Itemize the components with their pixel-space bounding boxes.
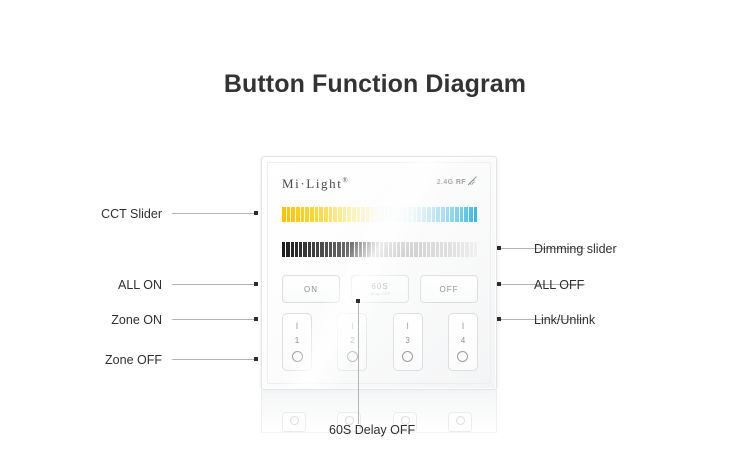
slider-segment xyxy=(350,242,353,257)
leader-line-all-on xyxy=(172,284,256,285)
slider-segment xyxy=(329,242,332,257)
brand-name: Mi·Light xyxy=(282,176,342,191)
slider-segment xyxy=(410,242,413,257)
reflection-zone-4 xyxy=(448,412,472,432)
slider-segment xyxy=(380,207,384,222)
zone-off-icon[interactable] xyxy=(457,351,468,362)
zone-number-label: 4 xyxy=(461,337,465,345)
zone-off-icon[interactable] xyxy=(347,351,358,362)
slider-segment xyxy=(413,207,417,222)
all-off-button[interactable]: OFF xyxy=(420,275,478,303)
slider-segment xyxy=(444,242,447,257)
slider-segment xyxy=(457,242,460,257)
slider-segment xyxy=(406,242,409,257)
slider-segment xyxy=(329,207,333,222)
slider-segment xyxy=(393,242,396,257)
slider-segment xyxy=(385,207,389,222)
leader-line-delay-off xyxy=(358,303,359,424)
slider-segment xyxy=(375,207,379,222)
callout-all-off: ALL OFF xyxy=(534,279,584,292)
slider-segment xyxy=(286,242,289,257)
slider-segment xyxy=(423,242,426,257)
leader-dot-zone-off xyxy=(254,357,258,361)
delay-off-sublabel: delay OFF xyxy=(370,291,390,296)
slider-segment xyxy=(372,242,375,257)
slider-segment xyxy=(342,242,345,257)
slider-segment xyxy=(347,207,351,222)
all-on-button[interactable]: ON xyxy=(282,275,340,303)
slider-segment xyxy=(394,207,398,222)
slider-segment xyxy=(474,207,478,222)
slider-segment xyxy=(366,207,370,222)
zone-button-1[interactable]: I 1 xyxy=(282,313,312,371)
slider-segment xyxy=(301,207,305,222)
callout-zone-off: Zone OFF xyxy=(62,354,162,367)
slider-segment xyxy=(361,207,365,222)
slider-segment xyxy=(397,242,400,257)
slider-segment xyxy=(448,242,451,257)
slider-segment xyxy=(419,242,422,257)
page-title: Button Function Diagram xyxy=(0,70,750,99)
slider-segment xyxy=(450,207,454,222)
slider-segment xyxy=(464,207,468,222)
slider-segment xyxy=(333,242,336,257)
slider-segment xyxy=(316,242,319,257)
slider-segment xyxy=(414,242,417,257)
slider-segment xyxy=(441,207,445,222)
slider-segment xyxy=(367,242,370,257)
zone-off-icon xyxy=(456,416,465,425)
zone-on-icon[interactable]: I xyxy=(462,322,465,331)
leader-line-zone-off xyxy=(172,359,256,360)
slider-segment xyxy=(352,207,356,222)
callout-dimming-slider: Dimming slider xyxy=(534,243,617,256)
brand-row: Mi·Light® 2.4G RF xyxy=(282,176,478,192)
zone-off-icon[interactable] xyxy=(292,351,303,362)
leader-line-zone-on xyxy=(172,319,256,320)
slider-segment xyxy=(308,242,311,257)
slider-segment xyxy=(389,207,393,222)
slider-segment xyxy=(422,207,426,222)
zone-number-label: 1 xyxy=(295,337,299,345)
slider-segment xyxy=(357,207,361,222)
slider-segment xyxy=(305,207,309,222)
callout-delay-off: 60S Delay OFF xyxy=(329,424,415,437)
slider-segment xyxy=(408,207,412,222)
leader-dot-all-on xyxy=(254,282,258,286)
slider-segment xyxy=(465,242,468,257)
wifi-wave-icon xyxy=(467,176,478,188)
callout-zone-on: Zone ON xyxy=(62,314,162,327)
slider-segment xyxy=(432,207,436,222)
all-off-label: OFF xyxy=(440,285,459,294)
zone-on-icon[interactable]: I xyxy=(296,322,299,331)
zone-on-icon[interactable]: I xyxy=(351,322,354,331)
leader-dot-zone-on xyxy=(254,317,258,321)
slider-segment xyxy=(315,207,319,222)
rf-badge: 2.4G RF xyxy=(437,179,478,188)
slider-segment xyxy=(303,242,306,257)
slider-segment xyxy=(431,242,434,257)
leader-dot-cct-slider xyxy=(254,211,258,215)
zone-button-3[interactable]: I 3 xyxy=(393,313,423,371)
all-on-label: ON xyxy=(304,285,318,294)
slider-segment xyxy=(474,242,477,257)
callout-cct-slider: CCT Slider xyxy=(62,208,162,221)
slider-segment xyxy=(343,207,347,222)
slider-segment xyxy=(401,242,404,257)
registered-mark-icon: ® xyxy=(342,177,347,185)
slider-segment xyxy=(389,242,392,257)
leader-line-cct-slider xyxy=(172,213,256,214)
slider-segment xyxy=(346,242,349,257)
slider-segment xyxy=(295,242,298,257)
mode-button-row: ON 60S delay OFF OFF xyxy=(282,275,478,301)
slider-segment xyxy=(453,242,456,257)
zone-on-icon[interactable]: I xyxy=(406,322,409,331)
slider-segment xyxy=(376,242,379,257)
callout-all-on: ALL ON xyxy=(62,279,162,292)
slider-segment xyxy=(355,242,358,257)
brand-logo: Mi·Light® xyxy=(282,176,348,192)
zone-number-label: 2 xyxy=(350,337,354,345)
slider-segment xyxy=(312,242,315,257)
slider-segment xyxy=(469,207,473,222)
device-panel: Mi·Light® 2.4G RF ON 60S delay OFF OFF I… xyxy=(261,156,497,390)
slider-segment xyxy=(399,207,403,222)
zone-number-label: 3 xyxy=(405,337,409,345)
slider-segment xyxy=(282,207,286,222)
slider-segment xyxy=(319,207,323,222)
slider-segment xyxy=(287,207,291,222)
slider-segment xyxy=(291,207,295,222)
slider-segment xyxy=(338,207,342,222)
slider-segment xyxy=(446,207,450,222)
slider-segment xyxy=(455,207,459,222)
slider-segment xyxy=(324,207,328,222)
slider-segment xyxy=(427,242,430,257)
slider-segment xyxy=(436,207,440,222)
zone-off-icon[interactable] xyxy=(402,351,413,362)
slider-segment xyxy=(337,242,340,257)
slider-segment xyxy=(417,207,421,222)
zone-off-icon xyxy=(290,416,299,425)
slider-segment xyxy=(440,242,443,257)
slider-segment xyxy=(461,242,464,257)
zone-button-row: I 1 I 2 I 3 I 4 xyxy=(282,313,478,371)
slider-segment xyxy=(333,207,337,222)
slider-segment xyxy=(371,207,375,222)
slider-segment xyxy=(470,242,473,257)
slider-segment xyxy=(359,242,362,257)
slider-segment xyxy=(363,242,366,257)
slider-segment xyxy=(320,242,323,257)
cct-slider[interactable] xyxy=(282,207,478,222)
slider-segment xyxy=(291,242,294,257)
zone-button-4[interactable]: I 4 xyxy=(448,313,478,371)
zone-button-2[interactable]: I 2 xyxy=(337,313,367,371)
slider-segment xyxy=(427,207,431,222)
rf-badge-label: 2.4G RF xyxy=(437,179,466,186)
callout-link-unlink: Link/Unlink xyxy=(534,314,595,327)
slider-segment xyxy=(296,207,300,222)
slider-segment xyxy=(282,242,285,257)
slider-segment xyxy=(299,242,302,257)
slider-segment xyxy=(403,207,407,222)
slider-segment xyxy=(325,242,328,257)
slider-segment xyxy=(310,207,314,222)
reflection-zone-1 xyxy=(282,412,306,432)
slider-segment xyxy=(380,242,383,257)
slider-segment xyxy=(460,207,464,222)
delay-off-label: 60S xyxy=(371,282,388,291)
slider-segment xyxy=(436,242,439,257)
dimming-slider[interactable] xyxy=(282,242,478,257)
slider-segment xyxy=(384,242,387,257)
